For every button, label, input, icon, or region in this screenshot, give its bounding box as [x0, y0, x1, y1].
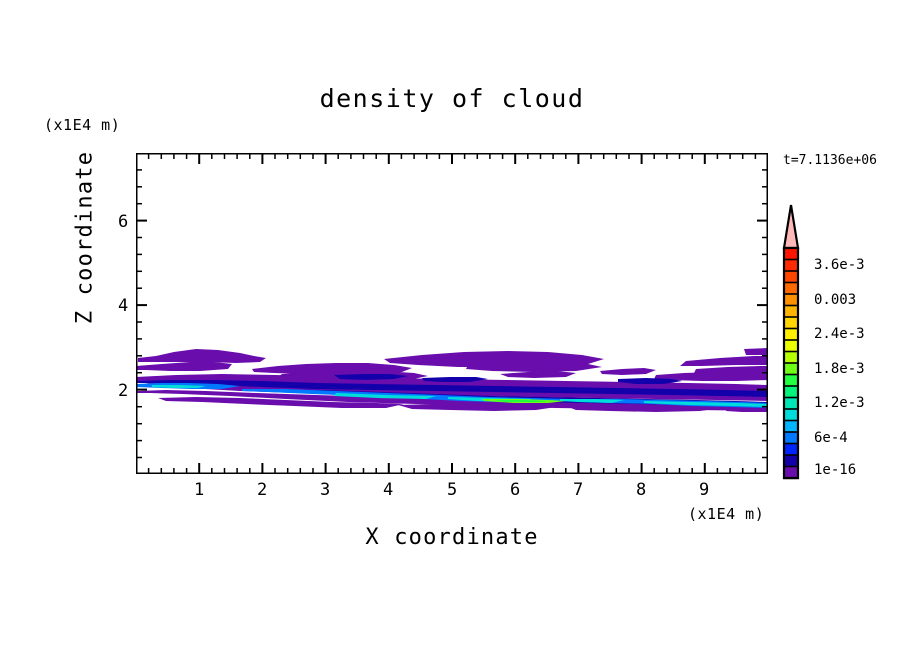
plot-background — [136, 153, 768, 474]
y-tick-label: 4 — [118, 296, 128, 316]
colorbar-band — [784, 432, 798, 444]
colorbar-band — [784, 248, 798, 260]
x-tick-label: 1 — [194, 480, 204, 500]
plot-area — [136, 153, 768, 474]
x-tick-label: 3 — [320, 480, 330, 500]
colorbar-band — [784, 375, 798, 387]
y-tick-label: 6 — [118, 212, 128, 232]
figure-canvas: density of cloud (x1E4 m) t=7.1136e+06 Z… — [0, 0, 904, 654]
colorbar-tick-label: 6e-4 — [814, 430, 848, 446]
colorbar-band-group — [784, 248, 798, 478]
colorbar-band — [784, 283, 798, 295]
x-axis-title: X coordinate — [286, 525, 618, 550]
colorbar-tick-label: 0.003 — [814, 292, 856, 308]
colorbar-band — [784, 306, 798, 318]
colorbar-band — [784, 329, 798, 341]
y-axis-unit-label: (x1E4 m) — [44, 116, 120, 134]
colorbar-band — [784, 467, 798, 479]
x-tick-label: 2 — [257, 480, 267, 500]
colorbar-band — [784, 386, 798, 398]
colorbar-tick-label: 2.4e-3 — [814, 326, 865, 342]
contour-plot — [136, 153, 768, 474]
x-tick-label: 4 — [383, 480, 393, 500]
x-tick-label: 9 — [699, 480, 709, 500]
colorbar-band — [784, 271, 798, 283]
colorbar-band — [784, 421, 798, 433]
x-tick-label: 8 — [636, 480, 646, 500]
x-tick-label: 6 — [510, 480, 520, 500]
colorbar-band — [784, 398, 798, 410]
x-axis-unit-label: (x1E4 m) — [688, 505, 764, 523]
y-tick-label: 2 — [118, 381, 128, 401]
colorbar-band — [784, 260, 798, 272]
page-title: density of cloud — [0, 84, 904, 113]
colorbar-band — [784, 444, 798, 456]
colorbar-tick-label: 1.8e-3 — [814, 361, 865, 377]
colorbar-band — [784, 340, 798, 352]
colorbar: 3.6e-3 0.003 2.4e-3 1.8e-3 1.2e-3 6e-4 1… — [778, 200, 904, 485]
time-annotation: t=7.1136e+06 — [783, 153, 877, 168]
x-tick-label: 7 — [573, 480, 583, 500]
colorbar-band — [784, 455, 798, 467]
colorbar-band — [784, 317, 798, 329]
colorbar-band — [784, 352, 798, 364]
colorbar-band — [784, 409, 798, 421]
colorbar-band — [784, 363, 798, 375]
colorbar-tick-label: 3.6e-3 — [814, 257, 865, 273]
colorbar-tick-label: 1.2e-3 — [814, 395, 865, 411]
y-axis-title: Z coordinate — [73, 148, 98, 328]
colorbar-extend-arrow — [784, 205, 798, 248]
colorbar-band — [784, 294, 798, 306]
colorbar-tick-label: 1e-16 — [814, 462, 856, 478]
x-tick-label: 5 — [447, 480, 457, 500]
